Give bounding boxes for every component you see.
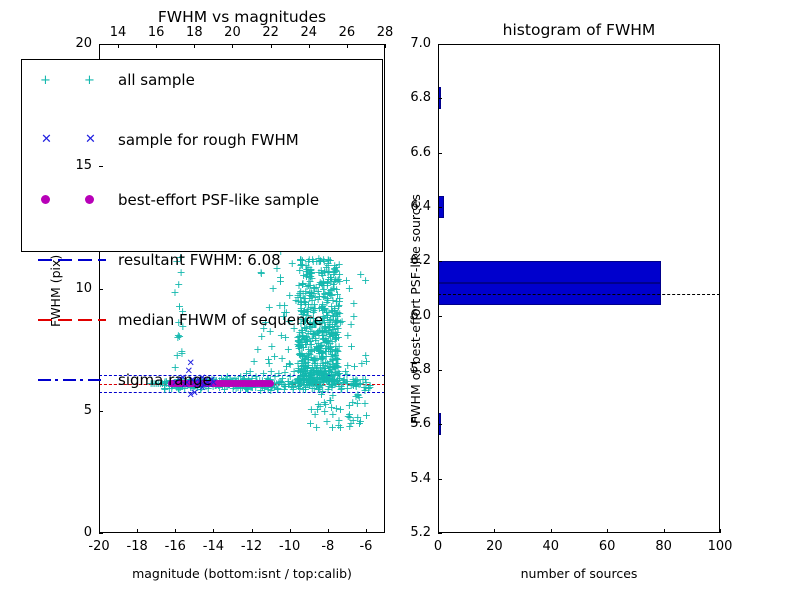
top-x-tick (347, 44, 348, 48)
scatter-point: + (328, 422, 337, 433)
legend-label: all sample (118, 71, 195, 89)
hist-x-tick (551, 529, 552, 533)
scatter-point: + (347, 341, 356, 352)
scatter-point: + (304, 256, 313, 267)
top-x-tick (232, 44, 233, 48)
right-plot-title: histogram of FWHM (438, 21, 720, 39)
y-tick (99, 44, 103, 45)
dashed-line-icon (98, 259, 106, 261)
y-tick-label: 5 (59, 403, 92, 418)
y-tick-label: 20 (59, 36, 92, 51)
x-tick-label: -6 (350, 539, 382, 554)
hist-y-tick-label: 6.4 (396, 199, 431, 214)
plus-marker-icon: + (40, 73, 51, 88)
legend-label: resultant FWHM: 6.08 (118, 251, 281, 269)
x-tick-label: -12 (236, 539, 268, 554)
hist-y-tick-label: 6.8 (396, 90, 431, 105)
y-tick (99, 289, 103, 290)
dashdot-line-icon (55, 379, 58, 381)
legend-item-sigma-range: sigma range (22, 218, 382, 248)
x-tick-label: -16 (159, 539, 191, 554)
scatter-point: + (323, 312, 332, 323)
top-x-tick (271, 44, 272, 48)
hist-y-tick-label: 6.0 (396, 308, 431, 323)
x-tick (328, 529, 329, 533)
x-tick-label: -20 (83, 539, 115, 554)
scatter-point: + (355, 418, 364, 429)
scatter-point: + (305, 268, 314, 279)
top-x-tick-label: 20 (216, 25, 248, 40)
scatter-point: + (361, 350, 370, 361)
scatter-point: + (349, 298, 358, 309)
resultant-fwhm-line-right (438, 294, 720, 295)
hist-x-tick (720, 529, 721, 533)
y-tick (99, 533, 103, 534)
hist-y-tick-label: 7.0 (396, 36, 431, 51)
dashed-line-icon (98, 319, 106, 321)
hist-x-tick (664, 529, 665, 533)
hist-y-tick (438, 207, 442, 208)
hist-x-tick-label: 100 (704, 539, 736, 554)
top-x-tick-label: 24 (293, 25, 325, 40)
hist-x-tick-label: 80 (648, 539, 680, 554)
top-x-tick-label: 14 (102, 25, 134, 40)
histogram-bar (438, 261, 661, 283)
scatter-point: + (173, 350, 182, 361)
legend-item-median-fwhm: median FHWM of sequence (22, 188, 382, 218)
hist-x-tick-label: 60 (591, 539, 623, 554)
hist-y-tick-label: 5.8 (396, 362, 431, 377)
legend-item-rough-fwhm: ✕ ✕ sample for rough FWHM (22, 98, 382, 128)
scatter-point: + (366, 380, 375, 391)
hist-y-tick-label: 6.6 (396, 145, 431, 160)
x-tick (175, 529, 176, 533)
dashdot-line-icon (38, 379, 51, 381)
scatter-point: + (285, 290, 294, 301)
top-x-tick-label: 26 (331, 25, 363, 40)
hist-y-tick (438, 153, 442, 154)
hist-y-tick (438, 44, 442, 45)
scatter-point: + (335, 296, 344, 307)
y-tick-label: 10 (59, 281, 92, 296)
scatter-point: + (324, 267, 333, 278)
hist-x-tick-label: 40 (535, 539, 567, 554)
hist-y-tick (438, 424, 442, 425)
scatter-point: + (323, 293, 332, 304)
top-x-tick-label: 16 (140, 25, 172, 40)
scatter-point: + (281, 332, 290, 343)
plus-marker-icon: + (84, 73, 95, 88)
scatter-point: + (312, 422, 321, 433)
scatter-point: + (305, 368, 314, 379)
scatter-point: + (356, 269, 365, 280)
scatter-point: + (295, 383, 304, 394)
legend-box: + + all sample ✕ ✕ sample for rough FWHM… (21, 59, 383, 252)
top-x-tick-label: 22 (255, 25, 287, 40)
hist-x-tick (607, 529, 608, 533)
hist-x-tick-label: 20 (478, 539, 510, 554)
x-tick-label: -18 (121, 539, 153, 554)
legend-label: sigma range (118, 371, 212, 389)
legend-label: median FHWM of sequence (118, 311, 323, 329)
scatter-point: + (331, 327, 340, 338)
top-x-tick (309, 44, 310, 48)
scatter-point: + (346, 319, 355, 330)
hist-y-tick-label: 5.4 (396, 471, 431, 486)
scatter-point: + (318, 330, 327, 341)
dashed-line-icon (58, 259, 72, 261)
hist-y-tick (438, 370, 442, 371)
hist-x-tick (494, 529, 495, 533)
top-x-tick (385, 44, 386, 48)
dashdot-line-icon (88, 379, 101, 381)
x-tick (290, 529, 291, 533)
x-tick-label: -8 (312, 539, 344, 554)
dashdot-line-icon (63, 379, 76, 381)
scatter-point: + (281, 381, 290, 392)
x-tick (366, 529, 367, 533)
hist-y-tick-label: 5.6 (396, 416, 431, 431)
hist-y-tick (438, 98, 442, 99)
dashed-line-icon (38, 319, 52, 321)
y-tick (99, 411, 103, 412)
scatter-point: + (301, 353, 310, 364)
x-tick (213, 529, 214, 533)
scatter-point: + (302, 281, 311, 292)
top-x-tick (118, 44, 119, 48)
legend-item-psf-like: best-effort PSF-like sample (22, 128, 382, 158)
figure-canvas: ++++++++++++++++++++++++++++++++++++++++… (0, 0, 800, 600)
dashed-line-icon (58, 319, 72, 321)
left-plot-title: FWHM vs magnitudes (99, 8, 385, 26)
scatter-point: + (174, 279, 183, 290)
y-tick (99, 166, 103, 167)
scatter-point: + (345, 409, 354, 420)
right-x-axis-label: number of sources (438, 566, 720, 581)
x-tick (137, 529, 138, 533)
scatter-point: + (342, 369, 351, 380)
hist-y-tick (438, 533, 442, 534)
top-x-tick (194, 44, 195, 48)
scatter-point: + (253, 344, 262, 355)
scatter-point: + (334, 274, 343, 285)
dashed-line-icon (78, 319, 92, 321)
hist-y-tick (438, 261, 442, 262)
x-tick-label: -14 (197, 539, 229, 554)
scatter-point: + (267, 341, 276, 352)
x-tick-label: -10 (274, 539, 306, 554)
hist-x-tick-label: 0 (422, 539, 454, 554)
scatter-point: + (345, 283, 354, 294)
scatter-point: + (343, 330, 352, 341)
left-x-axis-label: magnitude (bottom:isnt / top:calib) (94, 566, 390, 581)
hist-y-tick (438, 479, 442, 480)
scatter-point: + (310, 409, 319, 420)
rough-fwhm-point: ✕ (187, 359, 195, 369)
dashed-line-icon (78, 259, 92, 261)
scatter-point: + (332, 262, 341, 273)
scatter-point: + (276, 272, 285, 283)
hist-y-tick (438, 316, 442, 317)
scatter-point: + (280, 367, 289, 378)
y-tick-label: 15 (59, 158, 92, 173)
scatter-point: + (249, 356, 258, 367)
top-x-tick (156, 44, 157, 48)
dashdot-line-icon (80, 379, 83, 381)
scatter-point: + (345, 421, 354, 432)
y-tick-label: 0 (59, 525, 92, 540)
hist-y-tick-label: 6.2 (396, 253, 431, 268)
legend-item-all-sample: + + all sample (22, 68, 382, 98)
dashed-line-icon (38, 259, 52, 261)
hist-y-tick-label: 5.2 (396, 525, 431, 540)
scatter-point: + (301, 339, 310, 350)
scatter-point: + (332, 403, 341, 414)
x-tick (252, 529, 253, 533)
fwhm-histogram-plot[interactable] (438, 44, 720, 533)
top-x-tick-label: 18 (178, 25, 210, 40)
scatter-point: + (353, 389, 362, 400)
